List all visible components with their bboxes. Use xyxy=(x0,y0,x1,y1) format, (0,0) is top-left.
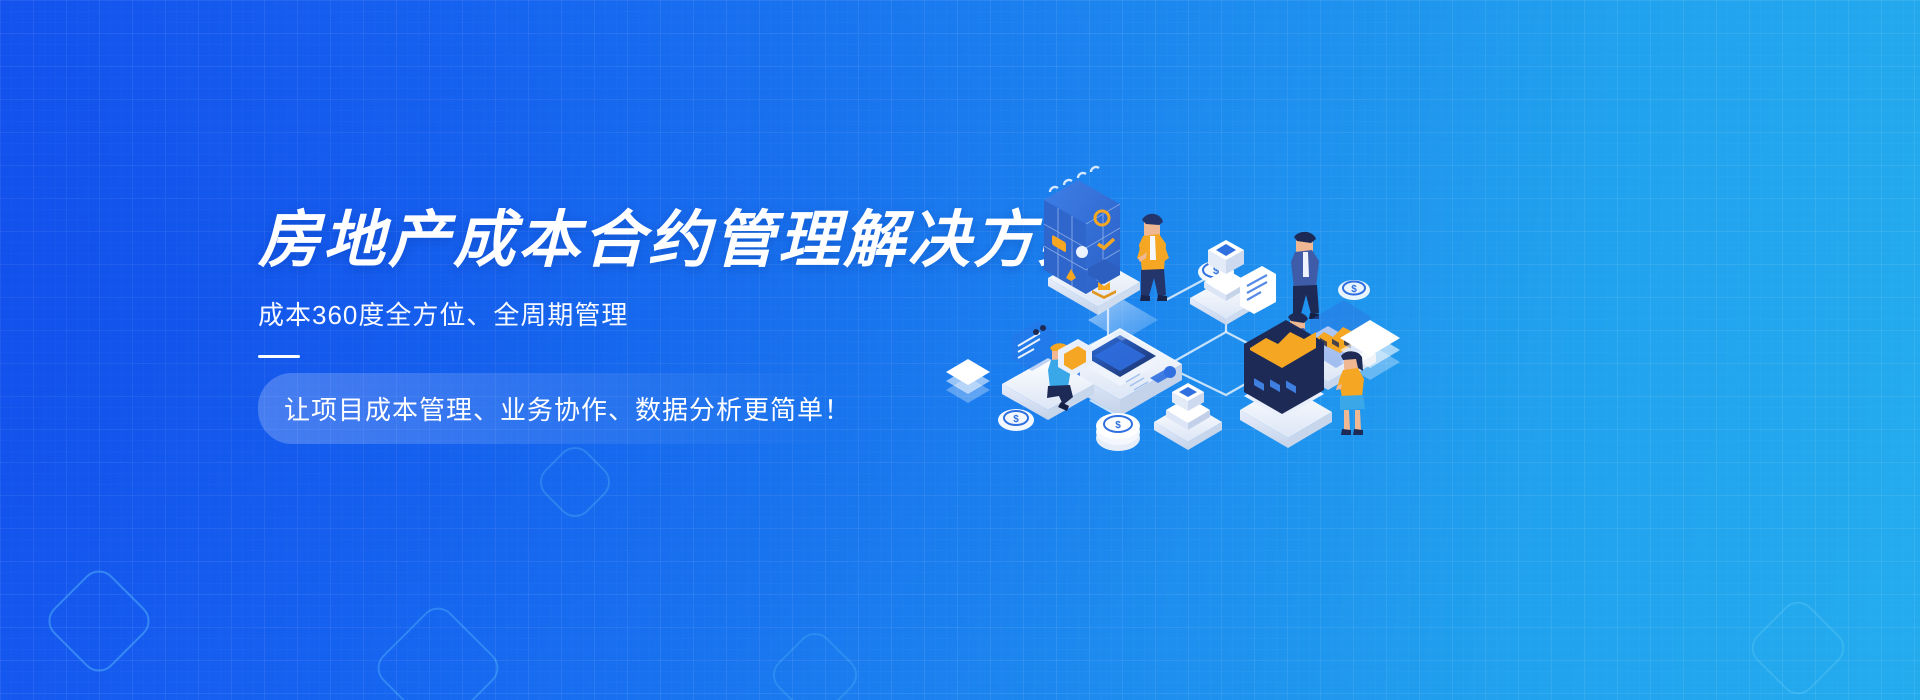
tagline-pill: 让项目成本管理、业务协作、数据分析更简单！ xyxy=(258,373,885,444)
dashboard-monitor xyxy=(1240,320,1332,448)
isometric-cost-management-illustration: $ xyxy=(940,150,1410,460)
diamond-outline-5 xyxy=(1744,594,1851,700)
spiral-calendar-board xyxy=(1044,167,1140,315)
standing-man-orange-jacket xyxy=(1137,214,1169,301)
svg-text:$: $ xyxy=(1115,420,1121,431)
dollar-coin: $ xyxy=(998,409,1034,431)
coin-stack: $ xyxy=(1096,413,1140,451)
page-subtitle: 成本360度全方位、全周期管理 xyxy=(258,299,1018,333)
title-divider xyxy=(258,355,300,358)
diamond-outline-1 xyxy=(41,563,157,679)
svg-text:$: $ xyxy=(1351,284,1357,295)
dollar-coin: $ xyxy=(1338,280,1370,300)
cube-node xyxy=(1154,383,1222,450)
stacked-layers xyxy=(946,359,990,403)
hero-banner: 房地产成本合约管理解决方案 成本360度全方位、全周期管理 让项目成本管理、业务… xyxy=(0,0,1920,700)
diamond-outline-2 xyxy=(370,600,506,700)
svg-text:$: $ xyxy=(1013,414,1019,425)
diamond-outline-4 xyxy=(766,626,865,700)
document-card xyxy=(1240,266,1276,314)
hero-copy-block: 房地产成本合约管理解决方案 成本360度全方位、全周期管理 让项目成本管理、业务… xyxy=(258,208,1018,358)
diamond-outline-3 xyxy=(533,440,618,525)
page-title: 房地产成本合约管理解决方案 xyxy=(258,208,1018,273)
standing-man-dark-suit xyxy=(1291,232,1319,319)
